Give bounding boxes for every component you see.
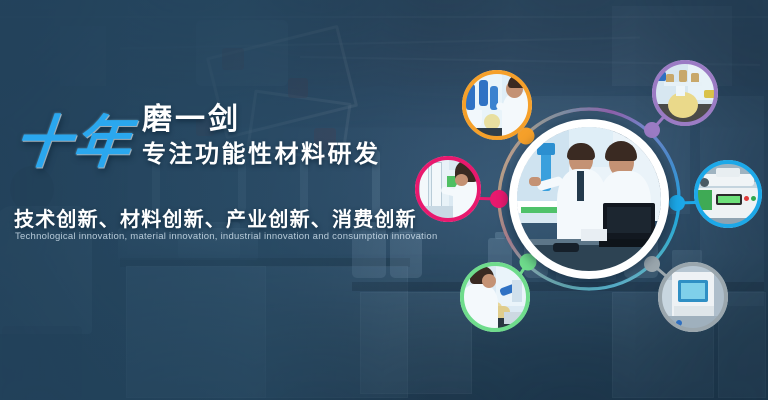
headline-line-2: 专注功能性材料研发 (142, 139, 381, 169)
headline-line-1: 磨一剑 (142, 104, 381, 136)
left-text-scrim (0, 0, 430, 400)
tagline-english: Technological innovation, material innov… (15, 231, 437, 242)
tagline-chinese: 技术创新、材料创新、产业创新、消费创新 (14, 203, 417, 232)
headline-block: 十年 磨一剑 专注功能性材料研发 (14, 104, 374, 171)
ring-green (460, 262, 530, 332)
ring-orange (462, 70, 532, 140)
brush-calligraphy-text: 十年 (11, 114, 145, 171)
center-white-ring (509, 119, 669, 279)
ring-cyan (694, 160, 762, 228)
ring-gray (658, 262, 728, 332)
circle-collage (400, 30, 768, 400)
ring-pink (415, 156, 481, 222)
promo-banner: 十年 磨一剑 专注功能性材料研发 技术创新、材料创新、产业创新、消费创新 Tec… (0, 0, 768, 400)
ring-purple (652, 60, 718, 126)
